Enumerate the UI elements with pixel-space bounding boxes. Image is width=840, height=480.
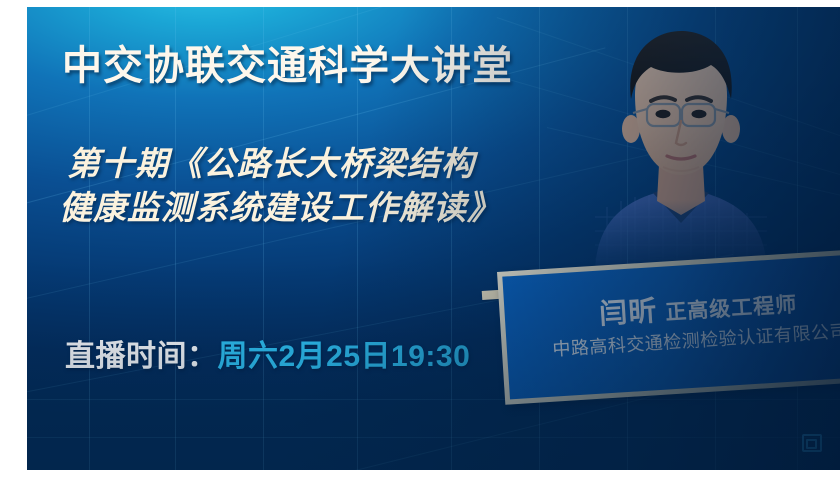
live-stream-poster: 中交协联交通科学大讲堂 第十期《公路长大桥梁结构 健康监测系统建设工作解读》 直… xyxy=(0,0,840,480)
subtitle-line-2: 健康监测系统建设工作解读》 xyxy=(59,186,587,230)
speaker-portrait-photo xyxy=(555,25,805,275)
page-title: 中交协联交通科学大讲堂 xyxy=(62,33,513,91)
program-subtitle: 第十期《公路长大桥梁结构 健康监测系统建设工作解读》 xyxy=(67,142,587,230)
live-time: 直播时间：周六2月25日19:30 xyxy=(65,331,470,375)
live-time-label: 直播时间： xyxy=(65,340,218,373)
speaker-name: 闫昕 xyxy=(598,295,658,330)
subtitle-line-1: 第十期《公路长大桥梁结构 xyxy=(67,142,587,186)
speaker-card-body: 闫昕正高级工程师 中路高科交通检测检验认证有限公司 xyxy=(502,252,840,400)
speaker-info-card: 闫昕正高级工程师 中路高科交通检测检验认证有限公司 xyxy=(497,247,840,422)
poster-artboard: 中交协联交通科学大讲堂 第十期《公路长大桥梁结构 健康监测系统建设工作解读》 直… xyxy=(27,7,840,470)
live-time-value: 周六2月25日19:30 xyxy=(218,340,471,373)
watermark-icon xyxy=(802,434,822,452)
speaker-title: 正高级工程师 xyxy=(665,293,798,324)
